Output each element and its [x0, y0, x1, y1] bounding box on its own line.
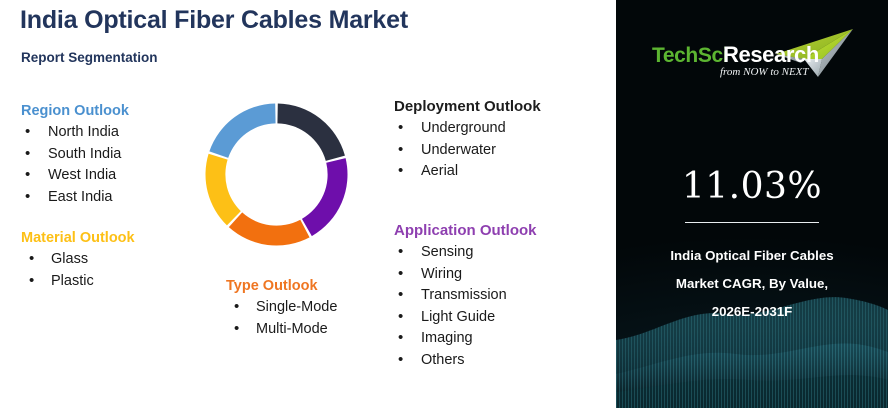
cagr-caption-line-3: 2026E-2031F — [616, 298, 888, 326]
segment-block-material: Material Outlook Glass Plastic — [21, 230, 135, 292]
page-subtitle: Report Segmentation — [21, 50, 158, 65]
techsci-research-logo: TechSci Research from NOW to NEXT — [616, 22, 888, 84]
logo-text-techsci: TechSci — [652, 44, 728, 67]
segment-list-application: Sensing Wiring Transmission Light Guide … — [394, 242, 537, 371]
donut-slice: Application Outlook — [302, 158, 348, 236]
list-item: Imaging — [394, 328, 537, 350]
segment-list-deployment: Underground Underwater Aerial — [394, 118, 541, 183]
divider — [685, 222, 819, 223]
segment-heading-type: Type Outlook — [226, 278, 337, 294]
list-item: South India — [21, 144, 129, 166]
list-item: Light Guide — [394, 307, 537, 329]
list-item: North India — [21, 122, 129, 144]
list-item: Single-Mode — [226, 297, 337, 319]
segment-heading-region: Region Outlook — [21, 103, 129, 119]
content-area: India Optical Fiber Cables Market Report… — [0, 0, 616, 408]
donut-slice: Material Outlook — [205, 154, 240, 226]
logo-text-research: Research — [723, 42, 819, 67]
page-title: India Optical Fiber Cables Market — [20, 6, 408, 35]
list-item: Underwater — [394, 140, 541, 162]
segment-list-type: Single-Mode Multi-Mode — [226, 297, 337, 340]
donut-slice: Type Outlook — [229, 212, 310, 245]
donut-slice: Deployment Outlook — [277, 104, 344, 161]
logo-svg: TechSci Research from NOW to NEXT — [652, 22, 857, 84]
list-item: Others — [394, 350, 537, 372]
logo-tagline: from NOW to NEXT — [720, 66, 809, 78]
segment-block-application: Application Outlook Sensing Wiring Trans… — [394, 222, 537, 371]
list-item: Sensing — [394, 242, 537, 264]
list-item: Underground — [394, 118, 541, 140]
list-item: Transmission — [394, 285, 537, 307]
list-item: Glass — [21, 249, 135, 271]
donut-svg: Deployment OutlookApplication OutlookTyp… — [199, 97, 354, 252]
list-item: Plastic — [21, 271, 135, 293]
cagr-value: 11.03% — [616, 166, 888, 207]
segment-heading-application: Application Outlook — [394, 222, 537, 239]
segment-block-deployment: Deployment Outlook Underground Underwate… — [394, 98, 541, 183]
cagr-caption-line-2: Market CAGR, By Value, — [616, 270, 888, 298]
cagr-caption-line-1: India Optical Fiber Cables — [616, 242, 888, 270]
report-segmentation-infographic: India Optical Fiber Cables Market Report… — [0, 0, 888, 408]
segment-list-region: North India South India West India East … — [21, 122, 129, 208]
cagr-caption: India Optical Fiber Cables Market CAGR, … — [616, 242, 888, 326]
cagr-side-panel: TechSci Research from NOW to NEXT 11.03%… — [616, 0, 888, 408]
segment-heading-deployment: Deployment Outlook — [394, 98, 541, 115]
list-item: Multi-Mode — [226, 319, 337, 341]
donut-slice: Region Outlook — [209, 104, 275, 158]
segment-block-type: Type Outlook Single-Mode Multi-Mode — [226, 278, 337, 340]
segment-list-material: Glass Plastic — [21, 249, 135, 292]
segment-heading-material: Material Outlook — [21, 230, 135, 246]
list-item: East India — [21, 187, 129, 209]
segment-block-region: Region Outlook North India South India W… — [21, 103, 129, 208]
segmentation-donut-chart: Deployment OutlookApplication OutlookTyp… — [199, 97, 354, 252]
list-item: West India — [21, 165, 129, 187]
list-item: Aerial — [394, 161, 541, 183]
list-item: Wiring — [394, 264, 537, 286]
